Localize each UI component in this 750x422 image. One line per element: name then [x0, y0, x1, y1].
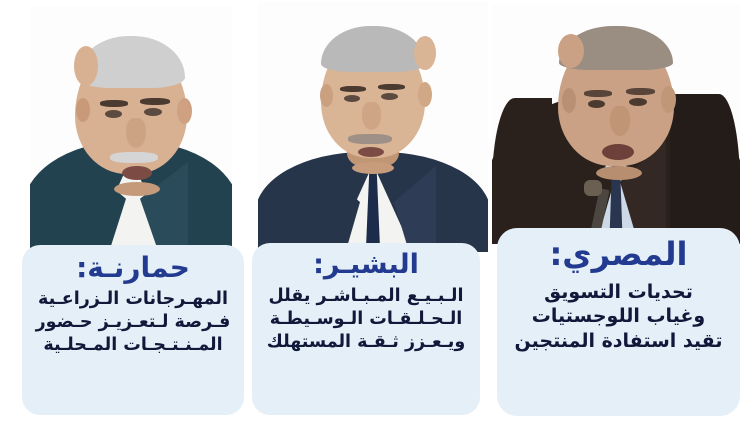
portrait-almasri — [492, 4, 740, 244]
panel-almasri: المصري: تحديات التسويق وغياب اللوجستيات … — [494, 0, 750, 422]
quote-line: المهـرجانات الـزراعـية — [30, 288, 236, 311]
caption-card-almasri: المصري: تحديات التسويق وغياب اللوجستيات … — [497, 228, 740, 416]
quote-line: المـنـتـجـات المـحلـية — [30, 334, 236, 357]
quote-line: تقيد استفادة المنتجين — [507, 329, 730, 354]
quote-line: ويـعـزز ثـقـة المستهلك — [260, 331, 472, 354]
quote-line: الـحـلـقـات الـوسـيطـة — [260, 308, 472, 331]
speaker-name: حمارنـة: — [22, 253, 244, 282]
quote-line: وغياب اللوجستيات — [507, 304, 730, 329]
speaker-name: البشيـر: — [252, 251, 480, 279]
portrait-hamarneh — [30, 6, 232, 254]
quote-text: الـبـيـع المـبـاشـر يقلل الـحـلـقـات الـ… — [252, 285, 480, 353]
quote-line: تحديات التسويق — [507, 280, 730, 305]
portrait-albashir — [258, 2, 488, 252]
speaker-name: المصري: — [497, 238, 740, 272]
quote-graphic: حمارنـة: المهـرجانات الـزراعـية فـرصة لـ… — [0, 0, 750, 422]
quote-line: الـبـيـع المـبـاشـر يقلل — [260, 285, 472, 308]
quote-text: تحديات التسويق وغياب اللوجستيات تقيد است… — [497, 280, 740, 354]
panel-hamarneh: حمارنـة: المهـرجانات الـزراعـية فـرصة لـ… — [0, 0, 248, 422]
panel-albashir: البشيـر: الـبـيـع المـبـاشـر يقلل الـحـل… — [252, 0, 492, 422]
quote-text: المهـرجانات الـزراعـية فـرصة لـتعـزيـز ح… — [22, 288, 244, 356]
quote-line: فـرصة لـتعـزيـز حـضور — [30, 311, 236, 334]
caption-card-hamarneh: حمارنـة: المهـرجانات الـزراعـية فـرصة لـ… — [22, 245, 244, 415]
caption-card-albashir: البشيـر: الـبـيـع المـبـاشـر يقلل الـحـل… — [252, 243, 480, 415]
